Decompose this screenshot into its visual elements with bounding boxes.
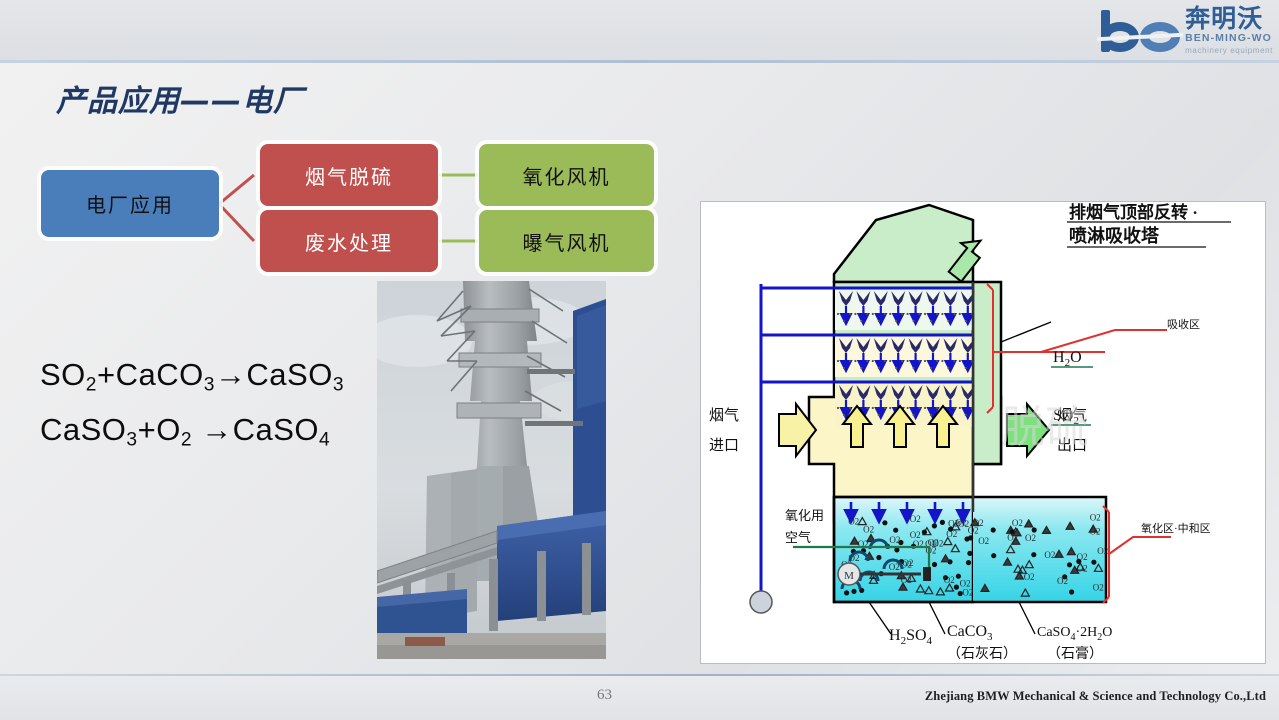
svg-text:排烟气顶部反转 ·: 排烟气顶部反转 · xyxy=(1069,202,1198,222)
absorption-zone-label: 吸收区 xyxy=(1167,317,1200,331)
bo-monogram-icon xyxy=(1097,9,1183,53)
svg-text:O2: O2 xyxy=(1097,546,1108,556)
flow-box-aeration-fan[interactable]: 曝气风机 xyxy=(479,210,654,272)
svg-text:O2: O2 xyxy=(1012,518,1023,528)
application-flowchart: 电厂应用 烟气脱硫 废水处理 氧化风机 曝气风机 xyxy=(36,143,676,273)
eq1-p3: 3 xyxy=(204,374,215,395)
svg-text:（石膏）: （石膏） xyxy=(1047,645,1103,662)
svg-text:O2: O2 xyxy=(1057,576,1068,586)
svg-text:进口: 进口 xyxy=(709,437,739,454)
flow-box-desulfurization[interactable]: 烟气脱硫 xyxy=(260,144,438,206)
svg-text:烟气: 烟气 xyxy=(709,407,739,424)
eq2-p0: CaSO xyxy=(40,412,126,447)
desulfurization-tower-photo xyxy=(377,281,606,659)
svg-text:（石灰石）: （石灰石） xyxy=(947,646,1017,662)
svg-text:M: M xyxy=(844,570,854,582)
eq2-p5: 4 xyxy=(319,430,330,451)
logo-chinese-name: 奔明沃 xyxy=(1185,6,1263,32)
rising-gas-arrows xyxy=(843,406,957,447)
svg-text:O2: O2 xyxy=(1090,513,1101,523)
page-title: 产品应用——电厂 xyxy=(56,76,304,120)
svg-text:喷淋吸收塔: 喷淋吸收塔 xyxy=(1069,225,1160,246)
svg-text:O2: O2 xyxy=(863,524,874,534)
svg-text:O2: O2 xyxy=(948,519,959,529)
slide-root: 奔明沃 BEN-MING-WO machinery equipment 产品应用… xyxy=(0,0,1279,720)
svg-text:O2: O2 xyxy=(1024,572,1035,582)
svg-text:O2: O2 xyxy=(848,517,859,527)
company-footer-name: Zhejiang BMW Mechanical & Science and Te… xyxy=(925,689,1266,704)
spray-absorption-tower-diagram: O2O2O2O2O2O2O2O2O2O2O2O2O2O2O2O2O2O2O2O2… xyxy=(700,201,1266,664)
flow-box-oxidation-fan[interactable]: 氧化风机 xyxy=(479,144,654,206)
svg-text:O2: O2 xyxy=(962,587,973,597)
eq2-p1: 3 xyxy=(126,430,137,451)
svg-text:O2: O2 xyxy=(1090,526,1101,536)
header-divider xyxy=(0,60,1279,63)
svg-text:O2: O2 xyxy=(1093,582,1104,592)
svg-text:O2: O2 xyxy=(1025,533,1036,543)
equation-line-2: CaSO3+O2 →CaSO4 xyxy=(40,407,344,462)
eq1-p2: +CaCO xyxy=(97,357,204,392)
eq2-p2: +O xyxy=(138,412,181,447)
flow-box-main[interactable]: 电厂应用 xyxy=(41,170,219,237)
svg-text:空气: 空气 xyxy=(785,530,811,545)
oxidation-neutralization-zone-label: 氧化区·中和区 xyxy=(1141,521,1211,535)
svg-text:O2: O2 xyxy=(1044,550,1055,560)
eq2-p3: 2 xyxy=(181,430,192,451)
eq1-p1: 2 xyxy=(86,374,97,395)
eq1-p5: 3 xyxy=(333,374,344,395)
page-number: 63 xyxy=(597,687,612,704)
watermark: 脱硫 xyxy=(1001,403,1089,452)
company-logo: 奔明沃 BEN-MING-WO machinery equipment xyxy=(1077,2,1273,60)
flow-box-wastewater[interactable]: 废水处理 xyxy=(260,210,438,272)
svg-text:O2: O2 xyxy=(968,525,979,535)
svg-text:O2: O2 xyxy=(946,529,957,539)
svg-text:O2: O2 xyxy=(1077,564,1088,574)
svg-text:氧化用: 氧化用 xyxy=(785,508,824,523)
svg-text:O2: O2 xyxy=(889,535,900,545)
eq2-p4: →CaSO xyxy=(192,412,319,447)
eq1-p0: SO xyxy=(40,357,86,392)
logo-english-name: BEN-MING-WO xyxy=(1185,32,1272,45)
svg-text:O2: O2 xyxy=(978,536,989,546)
eq1-p4: →CaSO xyxy=(215,357,333,392)
logo-tagline: machinery equipment xyxy=(1185,45,1273,56)
equation-line-1: SO2+CaCO3→CaSO3 xyxy=(40,352,344,407)
svg-text:O2: O2 xyxy=(910,514,921,524)
chemical-equations: SO2+CaCO3→CaSO3 CaSO3+O2 →CaSO4 xyxy=(40,352,344,463)
